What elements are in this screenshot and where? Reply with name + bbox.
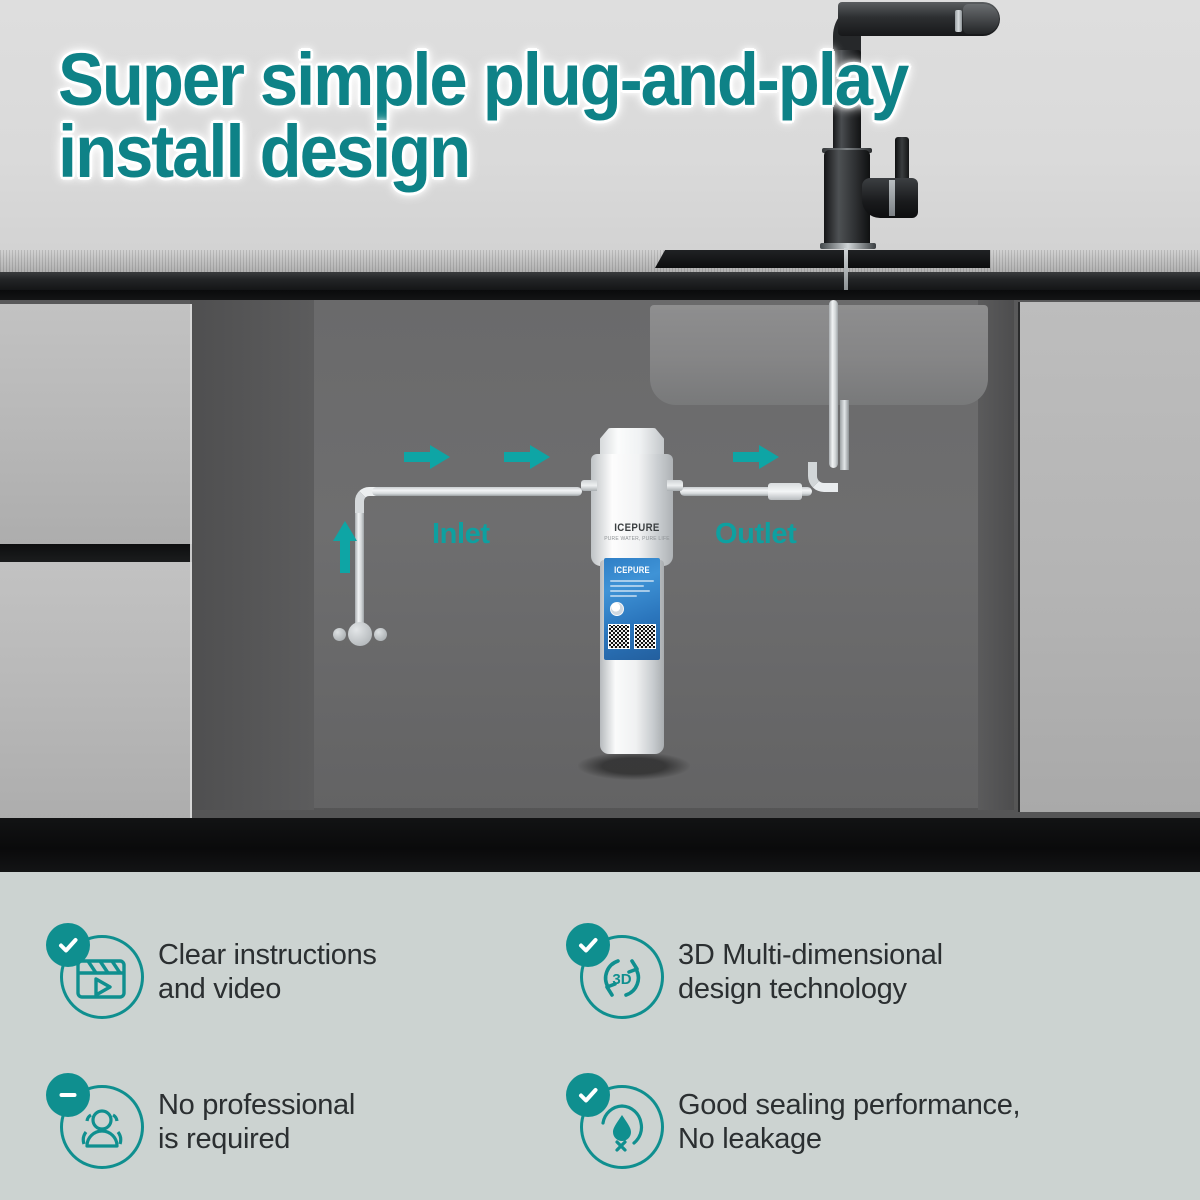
faucet-supply-stem <box>844 248 848 290</box>
feature-icon-wrap <box>566 1073 666 1173</box>
cabinet-drawer-gap <box>0 544 192 562</box>
cabinet-left-side-panel <box>190 300 314 810</box>
features-panel: Clear instructions and video 3D <box>0 872 1200 1200</box>
sink-drain-pipe <box>840 400 849 470</box>
filter-outlet-port <box>667 480 683 491</box>
flow-arrow-right-outlet <box>733 445 779 469</box>
outlet-tube-vertical <box>829 300 838 468</box>
flow-arrow-right-inlet-1 <box>404 445 450 469</box>
cabinet-drawer-upper <box>0 304 192 544</box>
feature-no-leakage: Good sealing performance, No leakage <box>566 1048 1176 1198</box>
svg-text:3D: 3D <box>612 971 631 988</box>
feature-label: Clear instructions and video <box>158 939 377 1006</box>
feature-3d-design: 3D 3D Multi-dimensional design technolog… <box>566 898 1176 1048</box>
filter-certification-seal <box>610 602 624 616</box>
filter-inlet-port <box>581 480 597 491</box>
faucet-spout-ring <box>955 10 962 32</box>
sink-basin-underside <box>650 305 988 405</box>
flow-arrow-up-inlet-riser <box>333 521 357 573</box>
feature-no-professional: No professional is required <box>46 1048 566 1198</box>
features-grid: Clear instructions and video 3D <box>46 898 1176 1198</box>
feature-icon-wrap: 3D <box>566 923 666 1023</box>
filter-cap <box>600 428 664 456</box>
shutoff-valve-right-nub <box>374 628 387 641</box>
feature-label: 3D Multi-dimensional design technology <box>678 939 943 1006</box>
cabinet-right-door <box>1018 302 1200 812</box>
filter-brand-text: ICEPURE <box>601 522 673 534</box>
filter-head: ICEPURE PURE WATER, PURE LIFE <box>591 454 673 566</box>
filter-product-label: ICEPURE <box>604 558 660 660</box>
countertop-shadow <box>0 290 1200 300</box>
countertop-edge <box>0 272 1200 292</box>
filter-label-spec-lines <box>610 580 654 600</box>
feature-label: No professional is required <box>158 1089 355 1156</box>
inlet-tube-horizontal <box>372 487 582 496</box>
filter-label-logo: ICEPURE <box>608 565 656 575</box>
inlet-label: Inlet <box>432 518 490 551</box>
filter-qr-code-left <box>608 624 630 649</box>
filter-drop-shadow <box>578 752 690 780</box>
flow-arrow-right-inlet-2 <box>504 445 550 469</box>
faucet-base-ring <box>820 243 876 249</box>
check-badge-icon <box>566 1073 610 1117</box>
sink-basin-top <box>655 250 990 268</box>
feature-label: Good sealing performance, No leakage <box>678 1089 1020 1156</box>
check-badge-icon <box>46 923 90 967</box>
filter-qr-code-right <box>634 624 656 649</box>
cabinet-drawer-lower <box>0 562 192 820</box>
product-marketing-image: Super simple plug-and-play install desig… <box>0 0 1200 1200</box>
filter-brand-tagline: PURE WATER, PURE LIFE <box>596 536 678 542</box>
check-badge-icon <box>566 923 610 967</box>
page-title: Super simple plug-and-play install desig… <box>58 44 1072 188</box>
feature-icon-wrap <box>46 1073 146 1173</box>
cabinet-floor <box>0 818 1200 874</box>
minus-badge-icon <box>46 1073 90 1117</box>
shutoff-valve-hub[interactable] <box>348 622 372 646</box>
feature-clear-instructions: Clear instructions and video <box>46 898 566 1048</box>
countertop-surface <box>0 250 1200 274</box>
feature-icon-wrap <box>46 923 146 1023</box>
outlet-tube-connector <box>768 483 802 500</box>
outlet-label: Outlet <box>715 518 796 551</box>
shutoff-valve-left-nub <box>333 628 346 641</box>
faucet-spout-tip <box>963 4 999 34</box>
